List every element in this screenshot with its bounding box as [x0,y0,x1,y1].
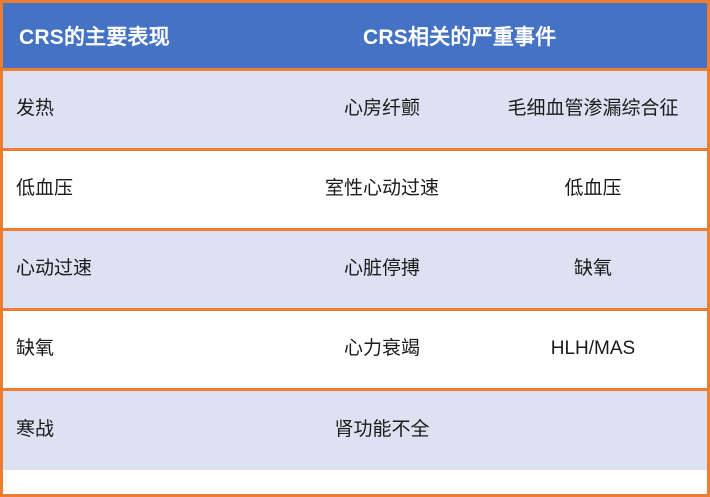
table-row: 寒战 肾功能不全 [3,391,707,470]
cell-event-a: 肾功能不全 [285,419,479,442]
cell-event-b: 低血压 [479,178,707,201]
cell-event-b: 缺氧 [479,258,707,281]
column-header-manifestations: CRS的主要表现 [3,21,285,51]
table-row: 低血压 室性心动过速 低血压 [3,151,707,231]
cell-manifestation: 寒战 [3,419,285,442]
cell-event-a: 心房纤颤 [285,98,479,121]
column-header-serious-events: CRS相关的严重事件 [285,21,707,51]
table-header-row: CRS的主要表现 CRS相关的严重事件 [3,3,707,71]
cell-event-a: 心力衰竭 [285,338,479,361]
cell-manifestation: 心动过速 [3,258,285,281]
cell-manifestation: 发热 [3,98,285,121]
cell-manifestation: 缺氧 [3,338,285,361]
cell-event-b: HLH/MAS [479,338,707,361]
crs-table: CRS的主要表现 CRS相关的严重事件 发热 心房纤颤 毛细血管渗漏综合征 低血… [0,0,710,497]
cell-manifestation: 低血压 [3,178,285,201]
table-row: 发热 心房纤颤 毛细血管渗漏综合征 [3,71,707,151]
cell-event-a: 室性心动过速 [285,178,479,201]
cell-event-a: 心脏停搏 [285,258,479,281]
table-row: 缺氧 心力衰竭 HLH/MAS [3,311,707,391]
cell-event-b: 毛细血管渗漏综合征 [479,98,707,121]
table-row: 心动过速 心脏停搏 缺氧 [3,231,707,311]
